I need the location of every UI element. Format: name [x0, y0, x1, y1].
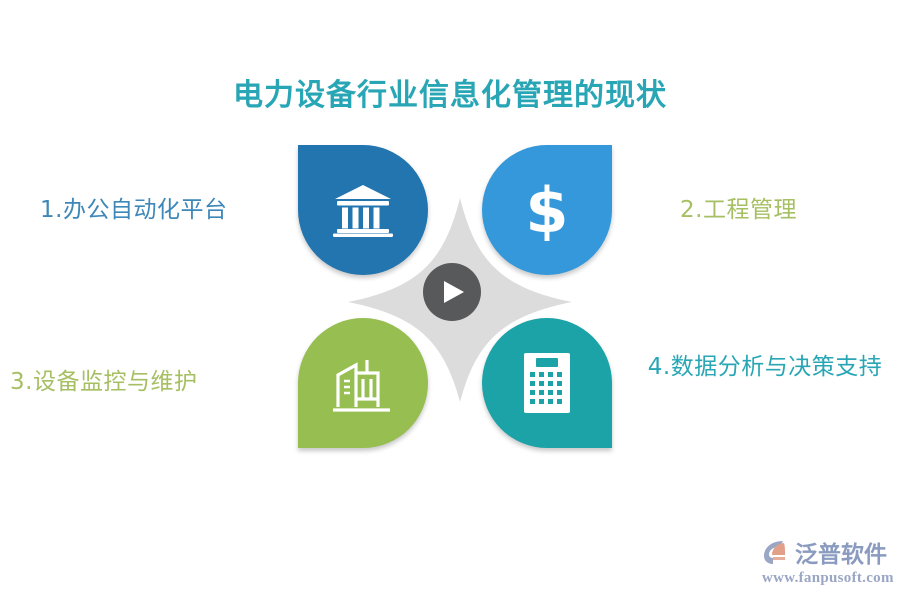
petal-label-project-management: 2.工程管理: [680, 193, 797, 227]
brand-logo[interactable]: 泛普软件 www.fanpusoft.com: [762, 535, 894, 593]
play-button[interactable]: [423, 263, 481, 321]
fanpu-fan-icon: [762, 537, 792, 567]
diagram-canvas: 电力设备行业信息化管理的现状: [0, 0, 900, 600]
play-icon: [443, 280, 465, 304]
petal-project-management[interactable]: $: [482, 145, 612, 275]
page-title: 电力设备行业信息化管理的现状: [0, 70, 900, 114]
radial-diagram: $: [290, 140, 630, 460]
logo-row: 泛普软件: [762, 535, 894, 569]
petal-label-office-automation: 1.办公自动化平台: [40, 193, 227, 227]
petal-label-equipment-monitoring: 3.设备监控与维护: [10, 365, 197, 399]
petal-2-shape: [482, 145, 612, 275]
petal-label-data-analysis: 4.数据分析与决策支持: [640, 350, 890, 384]
petal-3-shape: [298, 318, 428, 448]
logo-name: 泛普软件: [795, 535, 887, 569]
petal-equipment-monitoring[interactable]: [298, 318, 428, 448]
petal-1-shape: [298, 145, 428, 275]
logo-url: www.fanpusoft.com: [762, 570, 894, 587]
petal-data-analysis[interactable]: [482, 318, 612, 448]
petal-office-automation[interactable]: [298, 145, 428, 275]
petal-4-shape: [482, 318, 612, 448]
